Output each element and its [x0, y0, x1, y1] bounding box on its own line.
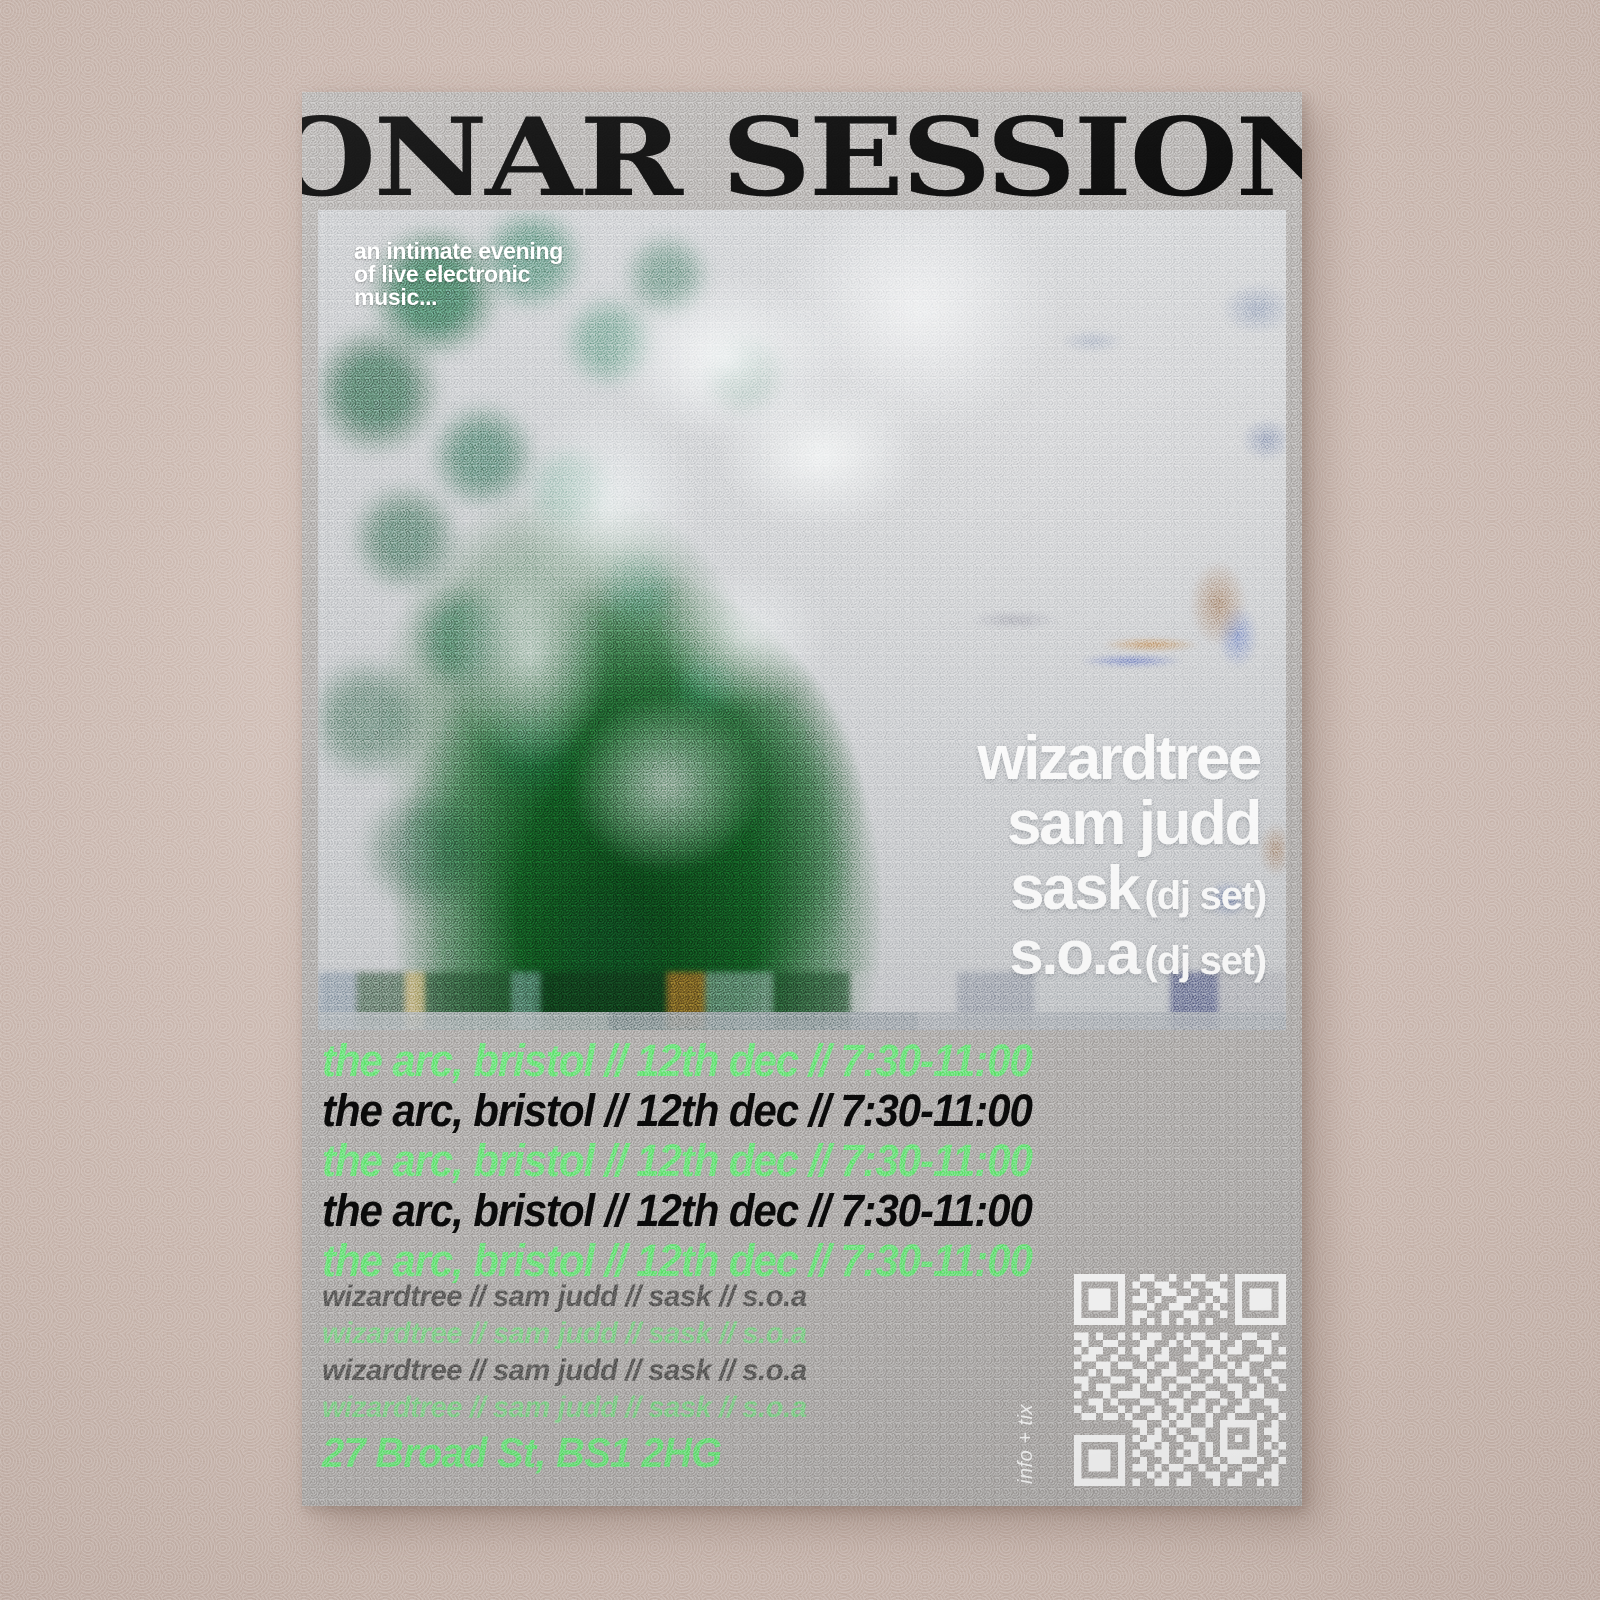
artist-list-line: wizardtree // sam judd // sask // s.o.a	[322, 1352, 1001, 1389]
lineup-item: sam judd	[977, 795, 1266, 860]
lineup-item: wizardtree	[977, 730, 1266, 795]
lineup-artist-name: s.o.a	[1009, 919, 1138, 988]
lineup-item: sask(dj set)	[977, 860, 1266, 925]
lineup-artist-note: (dj set)	[1144, 874, 1266, 918]
poster-artwork-photo: an intimate evening of live electronic m…	[318, 210, 1286, 1030]
qr-label: info + tix	[1015, 1404, 1038, 1484]
artist-list-line: wizardtree // sam judd // sask // s.o.a	[322, 1315, 1001, 1352]
subtitle-line-1: an intimate evening	[354, 240, 563, 263]
artist-list-line: wizardtree // sam judd // sask // s.o.a	[322, 1278, 1001, 1315]
event-details-line: the arc, bristol // 12th dec // 7:30-11:…	[322, 1036, 1221, 1086]
artist-list-line: wizardtree // sam judd // sask // s.o.a	[322, 1389, 1001, 1426]
subtitle-line-3: music...	[354, 286, 563, 309]
event-details-line: the arc, bristol // 12th dec // 7:30-11:…	[322, 1086, 1221, 1136]
event-details-line: the arc, bristol // 12th dec // 7:30-11:…	[322, 1136, 1221, 1186]
poster-title-area: SONAR SESSIONS	[324, 106, 1284, 210]
lineup-artist-name: sam judd	[1007, 789, 1260, 858]
qr-code-icon[interactable]	[1074, 1274, 1286, 1486]
venue-address: 27 Broad St, BS1 2HG	[322, 1430, 721, 1476]
event-details-line: the arc, bristol // 12th dec // 7:30-11:…	[322, 1186, 1221, 1236]
lineup-artist-name: wizardtree	[977, 724, 1260, 793]
artist-lineup: wizardtree sam judd sask(dj set) s.o.a(d…	[977, 730, 1266, 990]
event-details-repeat-block: the arc, bristol // 12th dec // 7:30-11:…	[322, 1036, 1284, 1286]
artist-list-repeat-block: wizardtree // sam judd // sask // s.o.a …	[322, 1278, 1022, 1426]
event-poster: SONAR SESSIONS an intimate evening of li…	[302, 92, 1302, 1506]
poster-scene: SONAR SESSIONS an intimate evening of li…	[0, 0, 1600, 1600]
lineup-artist-note: (dj set)	[1144, 939, 1266, 983]
lineup-artist-name: sask	[1010, 854, 1138, 923]
ticket-qr-zone[interactable]: info + tix	[1038, 1274, 1286, 1486]
poster-subtitle: an intimate evening of live electronic m…	[354, 240, 563, 309]
page-title: SONAR SESSIONS	[302, 100, 1302, 216]
subtitle-line-2: of live electronic	[354, 263, 563, 286]
lineup-item: s.o.a(dj set)	[977, 925, 1266, 990]
